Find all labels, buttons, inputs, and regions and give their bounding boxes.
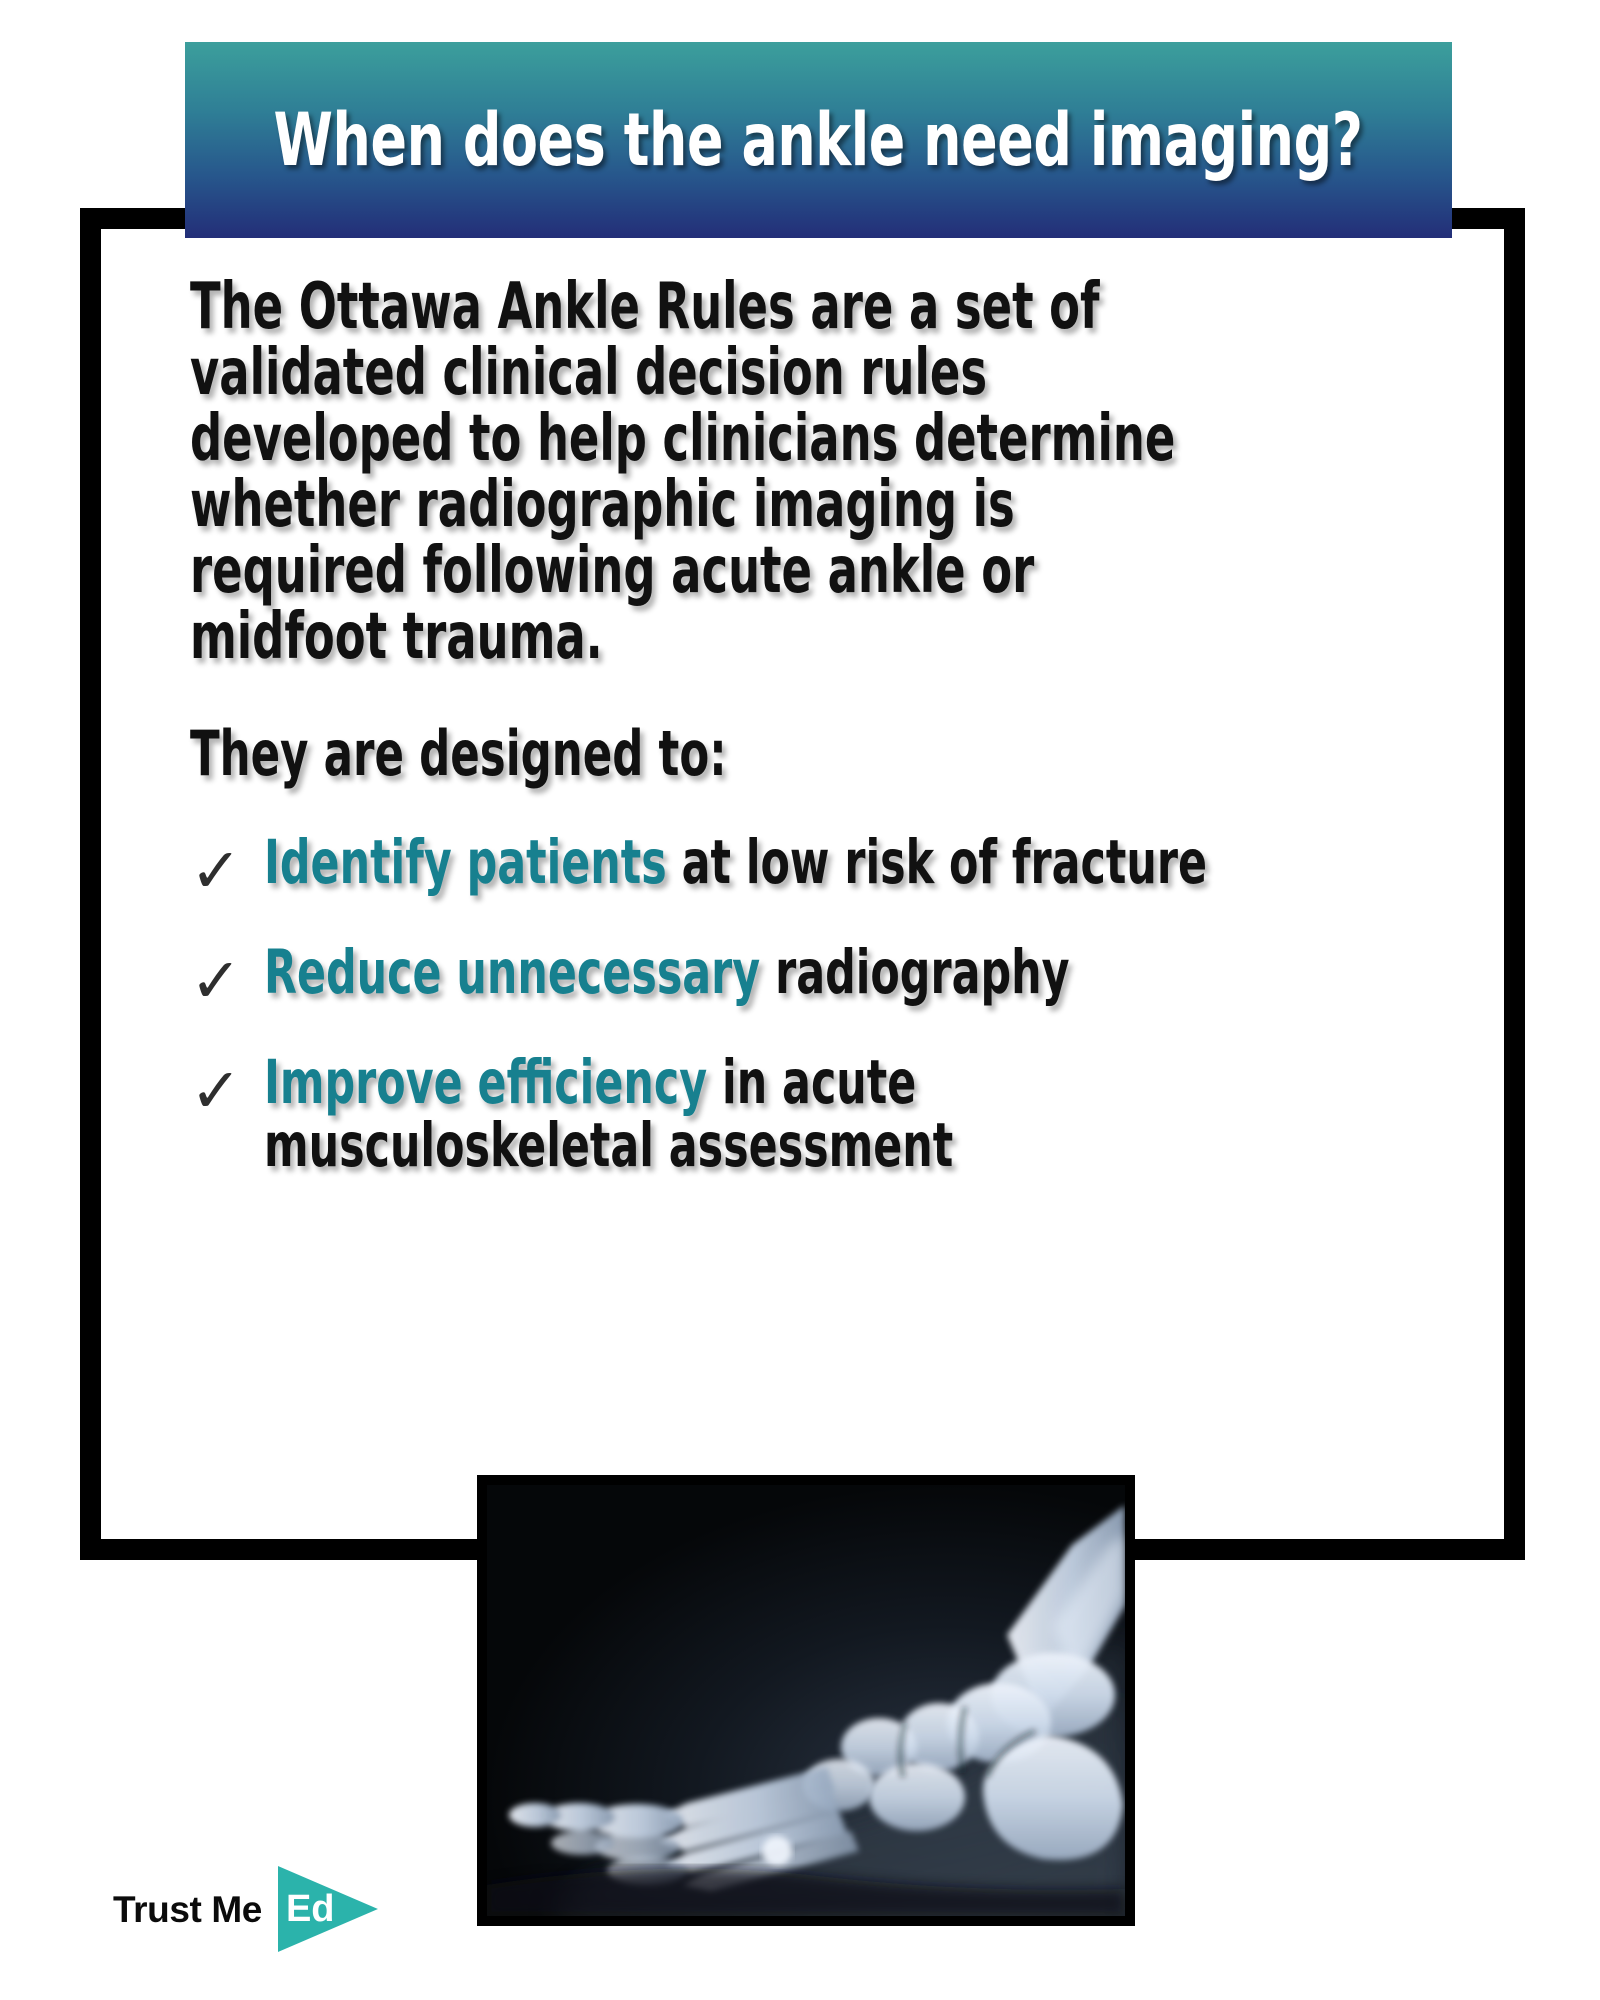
page-title: When does the ankle need imaging? [274, 104, 1363, 177]
list-item: ✓ Improve efficiency in acute musculoske… [190, 1052, 1480, 1178]
intro-line: midfoot trauma. [190, 605, 1196, 671]
list-item-line: Improve efficiency in acute [264, 1052, 1212, 1115]
check-icon: ✓ [190, 832, 264, 902]
list-item-line: Identify patients at low risk of fractur… [264, 832, 1212, 895]
intro-paragraph: The Ottawa Ankle Rules are a set of vali… [190, 275, 1196, 670]
intro-line: developed to help clinicians determine [190, 407, 1196, 473]
intro-line: The Ottawa Ankle Rules are a set of [190, 275, 1196, 341]
body-content: The Ottawa Ankle Rules are a set of vali… [190, 275, 1480, 1218]
list-item-highlight: Reduce unnecessary [264, 937, 760, 1008]
lateral-ankle-foot-xray-image [487, 1485, 1125, 1916]
list-item-highlight: Identify patients [264, 827, 667, 898]
list-item: ✓ Reduce unnecessary radiography [190, 942, 1480, 1012]
list-item-wrap-line: musculoskeletal assessment [264, 1115, 1212, 1178]
list-item-rest: at low risk of fracture [667, 827, 1207, 898]
list-item-text: Reduce unnecessary radiography [264, 942, 1212, 1005]
brand-ed-label: Ed [286, 1890, 335, 1928]
xray-figure [477, 1475, 1135, 1926]
list-item-rest: radiography [760, 937, 1069, 1008]
list-item: ✓ Identify patients at low risk of fract… [190, 832, 1480, 902]
designed-to-heading: They are designed to: [190, 722, 1196, 786]
list-item-rest: in acute [707, 1047, 916, 1118]
check-icon: ✓ [190, 942, 264, 1012]
intro-line: validated clinical decision rules [190, 341, 1196, 407]
list-item-line: Reduce unnecessary radiography [264, 942, 1212, 1005]
xray-graphic [487, 1485, 1125, 1916]
intro-line: whether radiographic imaging is [190, 473, 1196, 539]
brand-logo: Trust Me Ed [113, 1866, 378, 1952]
check-icon: ✓ [190, 1052, 264, 1122]
intro-line: required following acute ankle or [190, 539, 1196, 605]
objectives-list: ✓ Identify patients at low risk of fract… [190, 832, 1480, 1178]
header-banner: When does the ankle need imaging? [185, 42, 1452, 238]
brand-wordmark: Trust Me [113, 1891, 262, 1928]
list-item-highlight: Improve efficiency [264, 1047, 707, 1118]
list-item-text: Improve efficiency in acute musculoskele… [264, 1052, 1212, 1178]
play-triangle-icon: Ed [278, 1866, 378, 1952]
list-item-text: Identify patients at low risk of fractur… [264, 832, 1212, 895]
